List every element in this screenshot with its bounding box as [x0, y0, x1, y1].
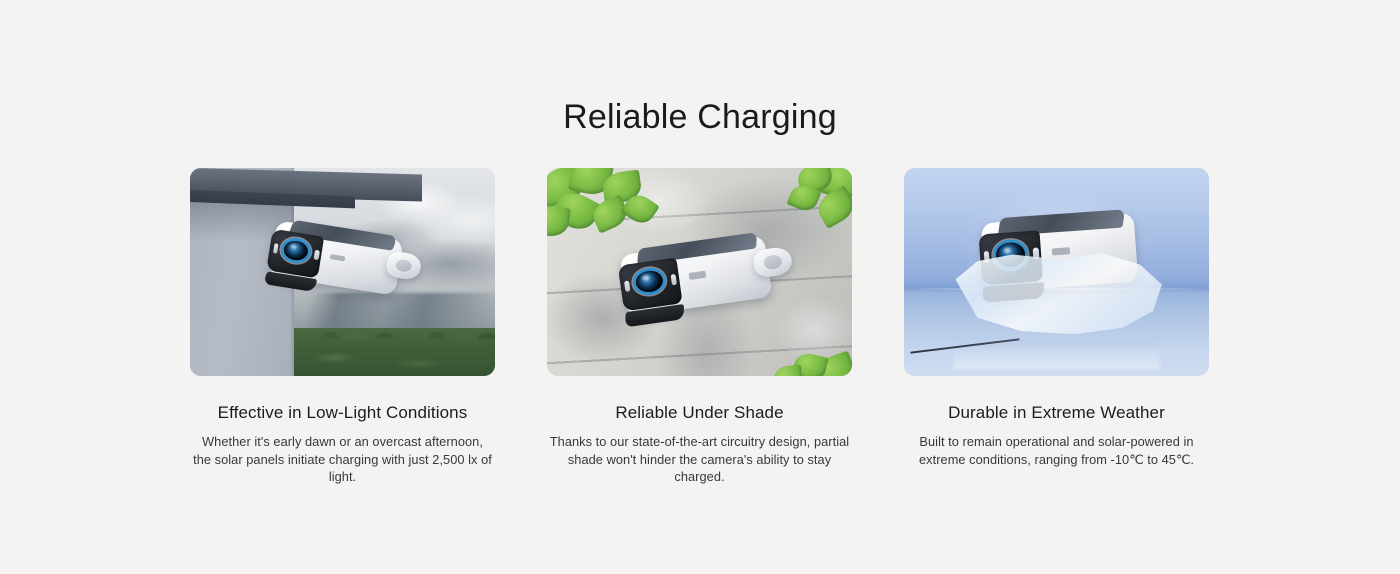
ir-led-right: [671, 273, 678, 285]
ir-led-right: [314, 250, 320, 261]
reliable-charging-section: Reliable Charging: [0, 0, 1400, 574]
card-image-extreme-weather: [904, 168, 1209, 376]
ir-led-left: [624, 280, 631, 292]
feature-card-low-light: Effective in Low-Light Conditions Whethe…: [190, 168, 495, 486]
ir-led-left: [273, 244, 279, 255]
camera-lens: [635, 269, 665, 294]
treeline: [294, 328, 495, 376]
card-heading: Effective in Low-Light Conditions: [190, 402, 495, 424]
card-body-text: Built to remain operational and solar-po…: [904, 433, 1209, 468]
card-heading: Durable in Extreme Weather: [904, 402, 1209, 424]
camera-faceplate: [618, 258, 682, 312]
feature-card-list: Effective in Low-Light Conditions Whethe…: [190, 168, 1210, 486]
card-image-low-light: [190, 168, 495, 376]
feature-card-extreme-weather: Durable in Extreme Weather Built to rema…: [904, 168, 1209, 486]
card-body-text: Whether it's early dawn or an overcast a…: [190, 433, 495, 486]
ice-reflection: [953, 328, 1160, 370]
card-heading: Reliable Under Shade: [547, 402, 852, 424]
camera-lens: [283, 240, 309, 263]
card-image-under-shade: [547, 168, 852, 376]
section-title: Reliable Charging: [0, 96, 1400, 138]
brand-logo: [1052, 247, 1071, 255]
card-body-text: Thanks to our state-of-the-art circuitry…: [547, 433, 852, 486]
feature-card-under-shade: Reliable Under Shade Thanks to our state…: [547, 168, 852, 486]
camera-faceplate: [267, 229, 324, 278]
